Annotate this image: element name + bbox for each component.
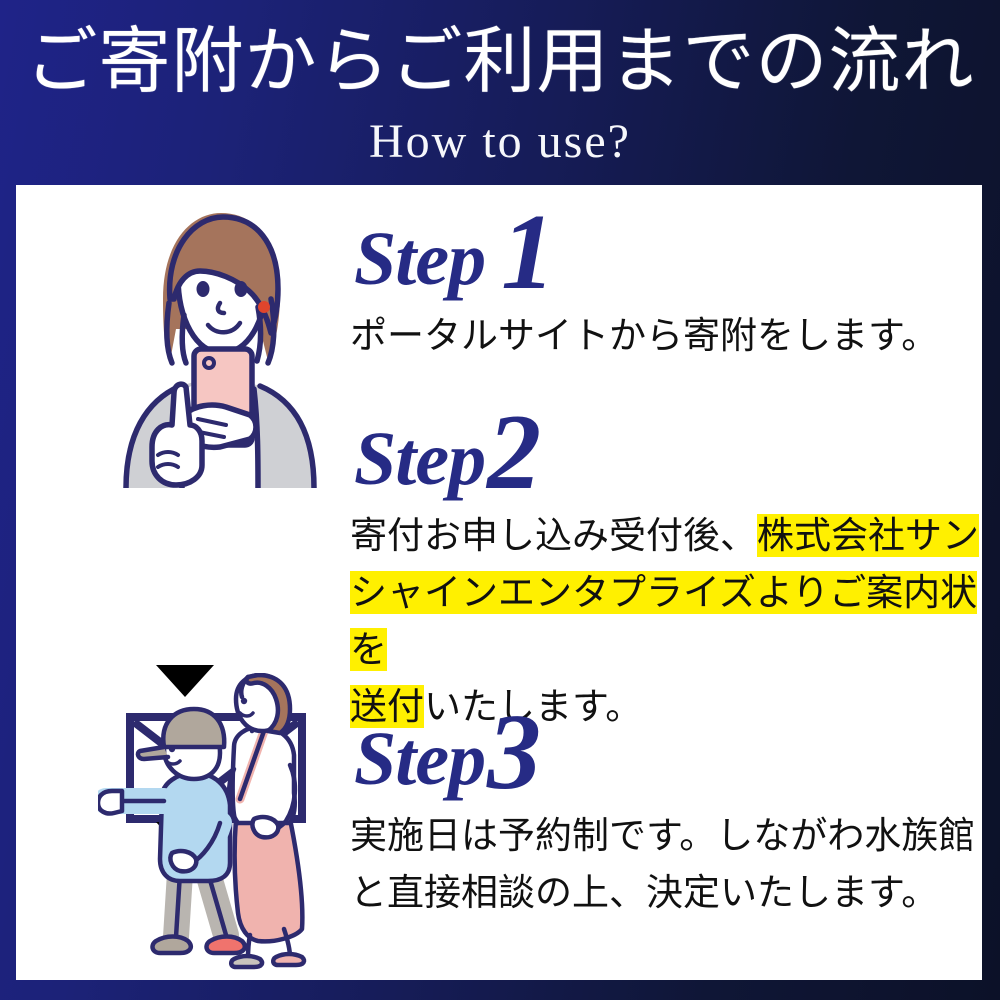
highlighted-text: シャインエンタプライズよりご案内状を: [350, 571, 977, 671]
step-1-label: Step: [354, 217, 485, 301]
content-panel: Step1 ポータルサイトから寄附をします。 Step2 寄付お申し込み受付後、…: [16, 185, 982, 980]
step-1-number: 1: [501, 193, 553, 312]
step-2-body-line-2: シャインエンタプライズよりご案内状を: [350, 564, 982, 678]
step-3-body-line-1: 実施日は予約制です。しながわ水族館: [350, 807, 982, 864]
step-block-3: Step3 実施日は予約制です。しながわ水族館 と直接相談の上、決定いたします。: [336, 707, 982, 921]
step-block-2: Step2 寄付お申し込み受付後、株式会社サン シャインエンタプライズよりご案内…: [336, 407, 982, 735]
header-banner: ご寄附からご利用までの流れ How to use?: [0, 0, 1000, 185]
illustration-column: [16, 185, 336, 980]
highlighted-text: 株式会社サン: [757, 514, 979, 557]
steps-column: Step1 ポータルサイトから寄附をします。 Step2 寄付お申し込み受付後、…: [336, 185, 982, 980]
step-3-label: Step: [354, 717, 485, 801]
step-2-body: 寄付お申し込み受付後、株式会社サン シャインエンタプライズよりご案内状を 送付い…: [336, 505, 982, 735]
step-2-heading: Step2: [336, 407, 982, 505]
page-title: ご寄附からご利用までの流れ: [0, 12, 1000, 110]
step-1-body: ポータルサイトから寄附をします。: [336, 305, 982, 364]
how-to-use-infographic: ご寄附からご利用までの流れ How to use?: [0, 0, 1000, 1000]
step-3-heading: Step3: [336, 707, 982, 805]
step-1-body-line-1: ポータルサイトから寄附をします。: [350, 307, 982, 364]
step-2-body-line-1: 寄付お申し込み受付後、株式会社サン: [350, 507, 982, 564]
step-block-1: Step1 ポータルサイトから寄附をします。: [336, 207, 982, 364]
mother-and-child-walking-illustration: [98, 673, 338, 973]
step-3-number: 3: [487, 693, 539, 812]
step-2-number: 2: [487, 393, 539, 512]
woman-with-smartphone-illustration: [108, 203, 328, 488]
page-subtitle: How to use?: [0, 112, 1000, 172]
step-1-heading: Step1: [336, 207, 982, 305]
step-2-label: Step: [354, 417, 485, 501]
step-3-body: 実施日は予約制です。しながわ水族館 と直接相談の上、決定いたします。: [336, 805, 982, 921]
step-3-body-line-2: と直接相談の上、決定いたします。: [350, 864, 982, 921]
